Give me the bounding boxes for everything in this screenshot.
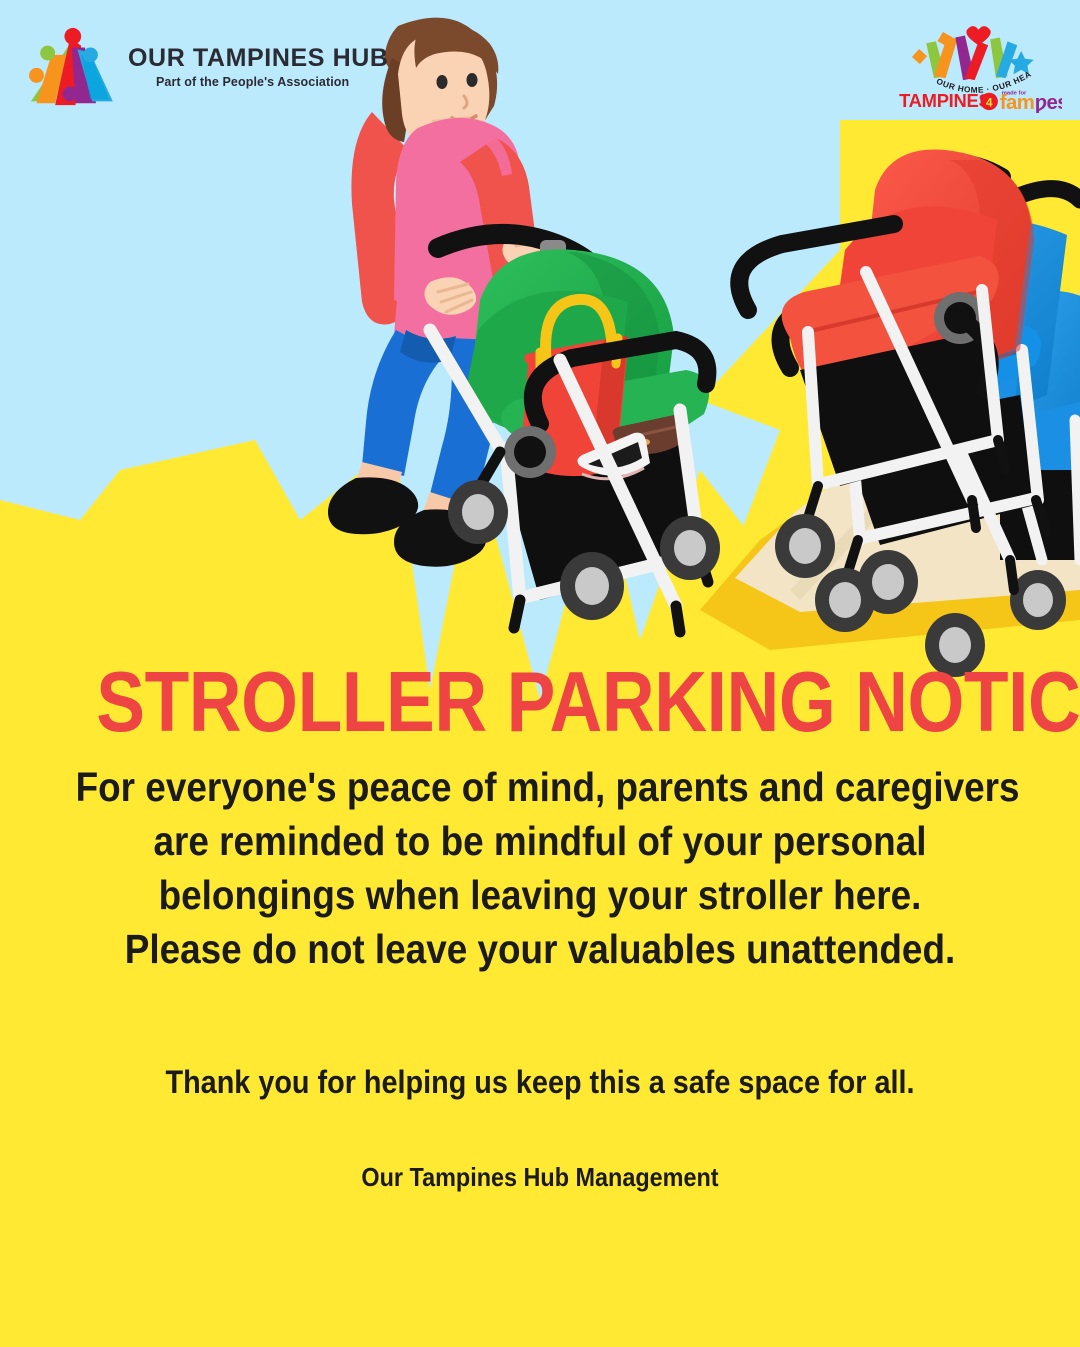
stroller-parking-notice-poster: OUR TAMPINES HUB Part of the People's As… <box>0 0 1080 1347</box>
tampines-for-families-logo: OUR HOME · OUR HEART TAMPINES 4 made for… <box>897 22 1062 114</box>
thank-you-line: Thank you for helping us keep this a saf… <box>76 1062 1005 1104</box>
oth-logo-title: OUR TAMPINES HUB <box>128 45 389 71</box>
svg-text:4: 4 <box>986 96 993 109</box>
svg-text:TAMPINES: TAMPINES <box>899 90 990 111</box>
body-line-1: For everyone's peace of mind, parents an… <box>76 760 1005 814</box>
svg-text:ƿes: ƿes <box>1035 92 1062 114</box>
svg-text:fam: fam <box>1000 92 1034 114</box>
notice-text-block: STROLLER PARKING NOTICE For everyone's p… <box>0 662 1080 1193</box>
oth-people-fan-icon <box>22 27 118 107</box>
body-line-3: belongings when leaving your stroller he… <box>76 868 1005 922</box>
our-tampines-hub-logo: OUR TAMPINES HUB Part of the People's As… <box>22 24 352 110</box>
page-title: STROLLER PARKING NOTICE <box>96 662 984 744</box>
oth-logo-subtitle: Part of the People's Association <box>156 75 389 89</box>
body-line-2: are reminded to be mindful of your perso… <box>76 814 1005 868</box>
signature-line: Our Tampines Hub Management <box>76 1162 1005 1193</box>
body-line-4: Please do not leave your valuables unatt… <box>76 922 1005 976</box>
background-blue-jagged <box>0 0 1080 760</box>
